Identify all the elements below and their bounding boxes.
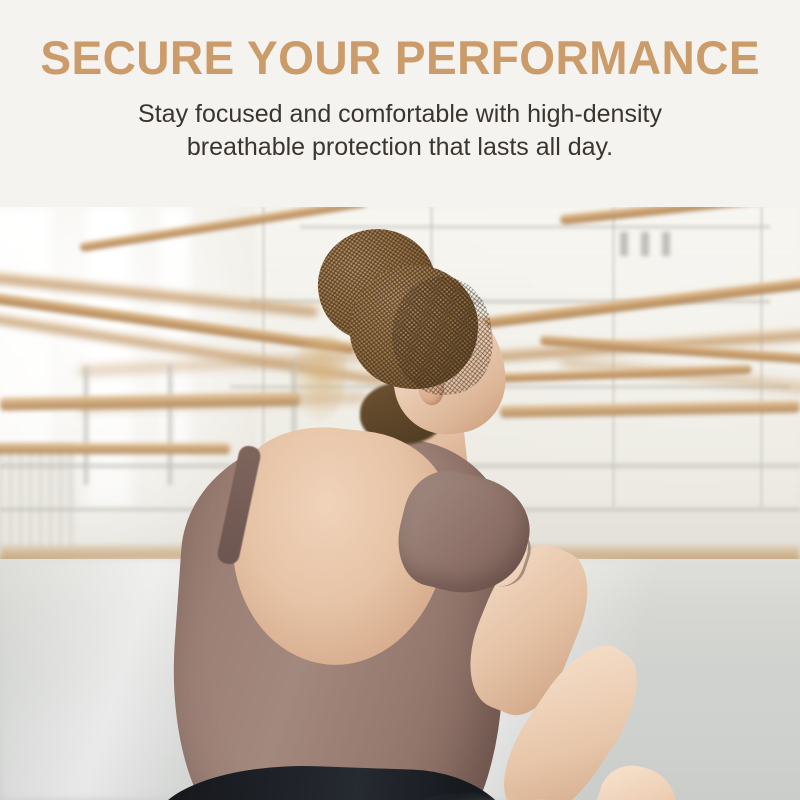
subheadline-line-1: Stay focused and comfortable with high-d…	[138, 100, 662, 128]
loose-hair-wisp	[288, 335, 346, 425]
hero-photo	[0, 207, 800, 800]
header-band: SECURE YOUR PERFORMANCE Stay focused and…	[0, 0, 800, 207]
subheadline: Stay focused and comfortable with high-d…	[138, 98, 662, 163]
subheadline-line-2: breathable protection that lasts all day…	[138, 131, 662, 164]
marketing-banner: SECURE YOUR PERFORMANCE Stay focused and…	[0, 0, 800, 800]
ballet-dancer	[0, 207, 800, 800]
hand	[589, 757, 685, 800]
page-title: SECURE YOUR PERFORMANCE	[40, 34, 760, 81]
